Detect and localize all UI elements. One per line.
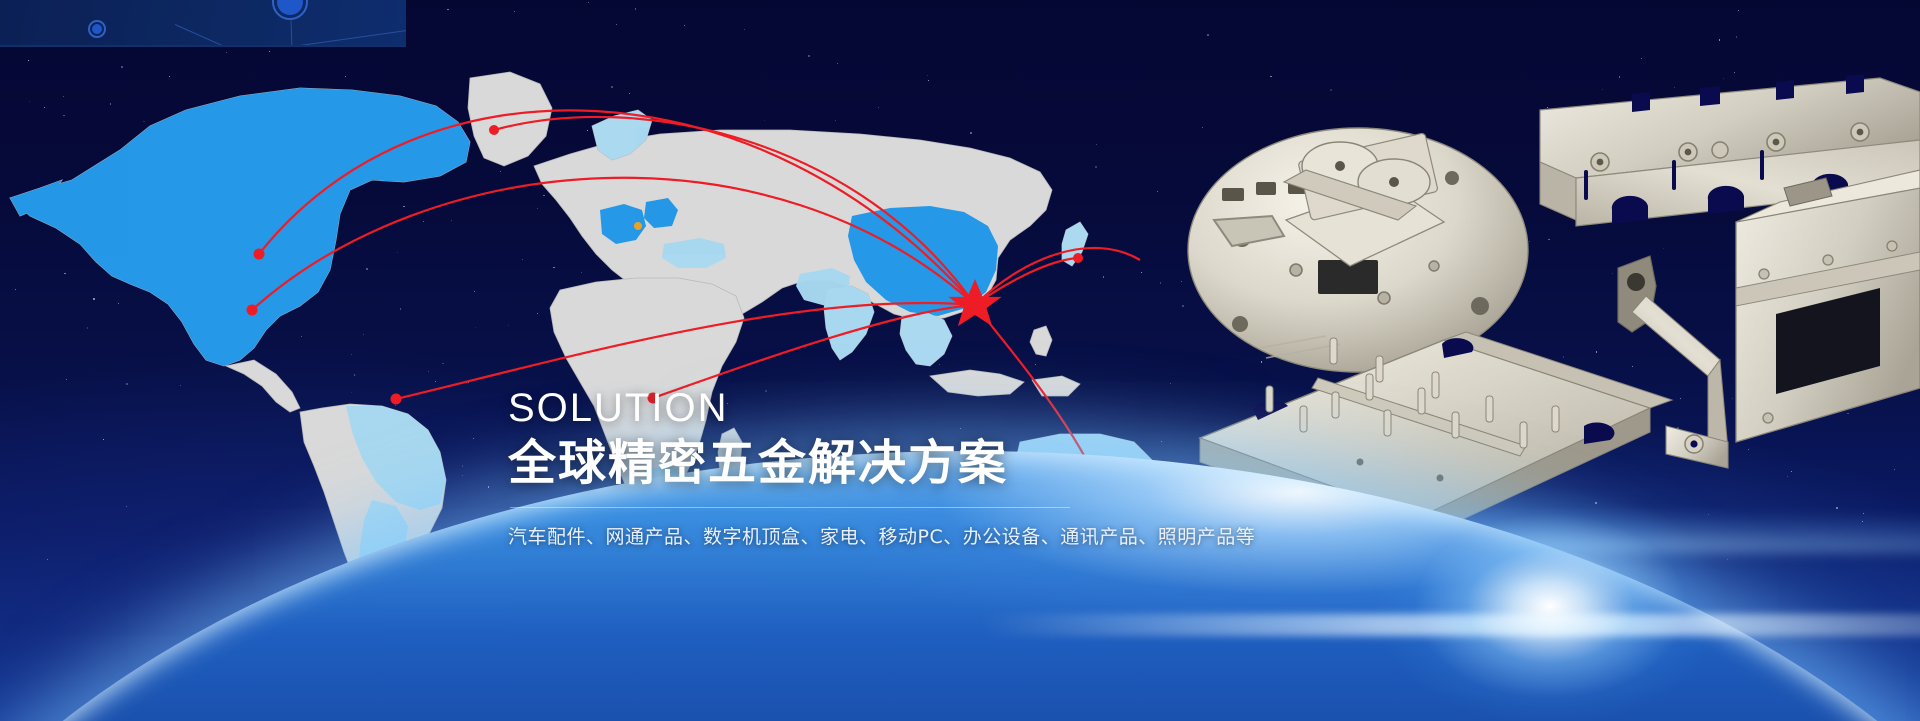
product-parts-group	[1180, 70, 1920, 540]
endpoint-mexico	[247, 305, 258, 316]
subtitle-text: 汽车配件、网通产品、数字机顶盒、家电、移动PC、办公设备、通讯产品、照明产品等	[508, 522, 1088, 549]
page-title: 全球精密五金解决方案	[508, 436, 1088, 491]
endpoint-brazil	[391, 394, 402, 405]
divider	[510, 507, 1070, 508]
headline-block: SOLUTION 全球精密五金解决方案 汽车配件、网通产品、数字机顶盒、家电、移…	[508, 388, 1088, 549]
endpoint-germany	[634, 222, 642, 230]
hero-banner: SOLUTION 全球精密五金解决方案 汽车配件、网通产品、数字机顶盒、家电、移…	[0, 0, 1920, 721]
endpoint-greenland	[489, 125, 499, 135]
endpoint-north-america	[254, 249, 265, 260]
endpoint-japan	[1073, 253, 1083, 263]
kicker-text: SOLUTION	[508, 388, 1088, 428]
